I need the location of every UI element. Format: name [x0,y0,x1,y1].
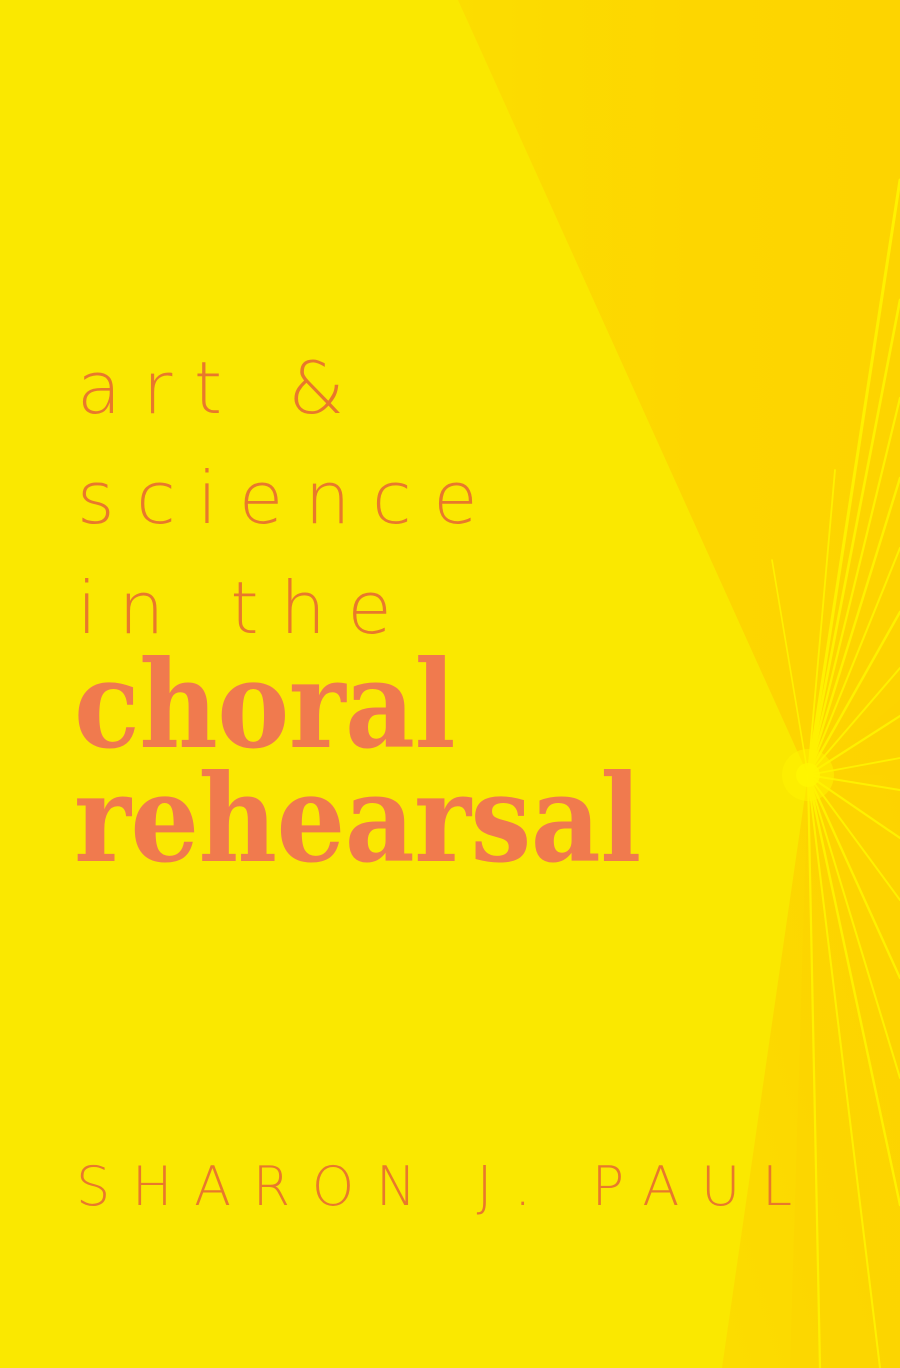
title-line-science: science [77,462,714,534]
title-line-in-the: in the [77,572,714,644]
focal-core [796,763,820,787]
book-cover: art & science in the choral rehearsal SH… [0,0,900,1368]
title-line-rehearsal: rehearsal [74,761,714,880]
title-block: art & science in the choral rehearsal [74,352,714,880]
author-name: SHARON J. PAUL [76,1160,776,1214]
title-line-art: art & [77,352,714,424]
author-block: SHARON J. PAUL [76,1160,776,1214]
